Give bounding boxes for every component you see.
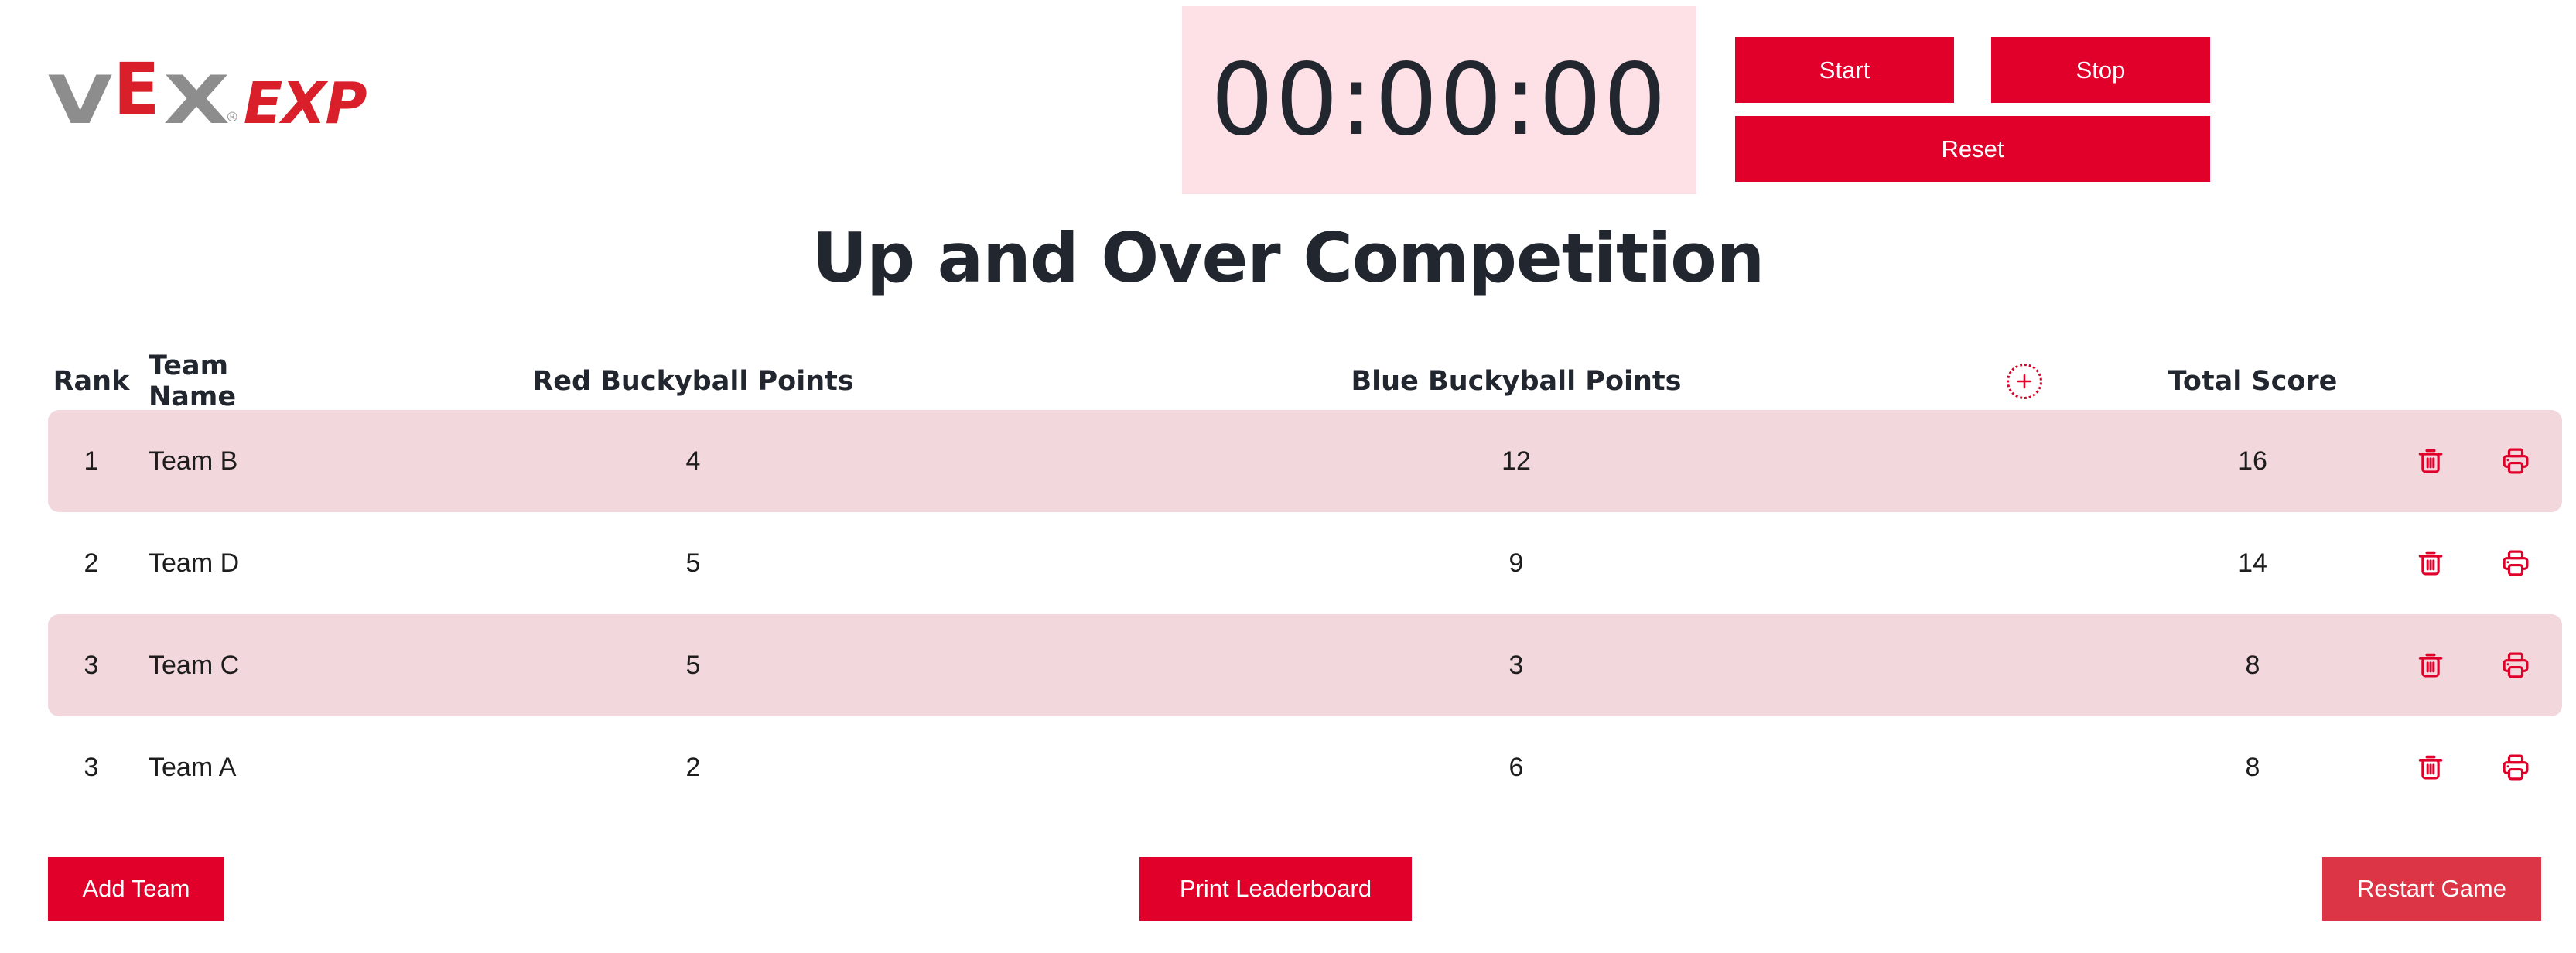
cell-rank: 3 [48, 651, 135, 681]
logo-letter-v: V [48, 67, 111, 134]
trash-icon[interactable] [2414, 750, 2448, 784]
timer-controls: Start Stop Reset [1735, 37, 2211, 182]
logo-letter-x: X [163, 67, 230, 134]
trash-icon[interactable] [2414, 648, 2448, 682]
timer-value: 00:00:00 [1211, 51, 1668, 150]
top-bar: V E X ® EXP 00:00:00 Start Stop Reset [0, 0, 2576, 200]
stop-button[interactable]: Stop [1991, 37, 2210, 103]
trash-icon[interactable] [2414, 444, 2448, 478]
print-icon[interactable] [2499, 444, 2533, 478]
table-row[interactable]: 3 Team C 5 3 8 [48, 614, 2562, 716]
cell-red-points: 2 [282, 753, 1105, 783]
footer-actions: Add Team Print Leaderboard Restart Game [0, 857, 2576, 953]
restart-game-button[interactable]: Restart Game [2322, 857, 2541, 921]
plus-circle-icon[interactable] [2007, 364, 2042, 399]
cell-red-points: 4 [282, 446, 1105, 476]
print-icon[interactable] [2499, 648, 2533, 682]
start-button[interactable]: Start [1735, 37, 1954, 103]
cell-total-score: 8 [2121, 753, 2384, 783]
cell-actions [2384, 444, 2562, 478]
table-row[interactable]: 2 Team D 5 9 14 [48, 512, 2562, 614]
table-header-row: Rank Team Name Red Buckyball Points Blue… [48, 353, 2562, 410]
cell-actions [2384, 546, 2562, 580]
column-header-total-score: Total Score [2121, 366, 2384, 397]
logo-word-exp: EXP [244, 75, 367, 132]
page-title: Up and Over Competition [0, 224, 2576, 292]
cell-team-name: Team A [135, 753, 282, 783]
cell-blue-points: 12 [1105, 446, 1928, 476]
cell-team-name: Team B [135, 446, 282, 476]
print-leaderboard-button[interactable]: Print Leaderboard [1139, 857, 1412, 921]
leaderboard-page: V E X ® EXP 00:00:00 Start Stop Reset Up… [0, 0, 2576, 953]
print-icon[interactable] [2499, 546, 2533, 580]
cell-red-points: 5 [282, 548, 1105, 579]
cell-rank: 3 [48, 753, 135, 783]
cell-blue-points: 9 [1105, 548, 1928, 579]
add-team-button[interactable]: Add Team [48, 857, 224, 921]
cell-blue-points: 6 [1105, 753, 1928, 783]
cell-total-score: 14 [2121, 548, 2384, 579]
cell-total-score: 16 [2121, 446, 2384, 476]
cell-total-score: 8 [2121, 651, 2384, 681]
table-row[interactable]: 3 Team A 2 6 8 [48, 716, 2562, 818]
column-header-team-name: Team Name [135, 350, 282, 412]
leaderboard-table: Rank Team Name Red Buckyball Points Blue… [0, 353, 2576, 818]
trash-icon[interactable] [2414, 546, 2448, 580]
registered-trademark-icon: ® [226, 111, 239, 125]
column-header-rank: Rank [48, 366, 135, 397]
cell-red-points: 5 [282, 651, 1105, 681]
cell-team-name: Team C [135, 651, 282, 681]
column-header-blue-buckyball-points: Blue Buckyball Points [1105, 366, 1928, 397]
cell-blue-points: 3 [1105, 651, 1928, 681]
table-row[interactable]: 1 Team B 4 12 16 [48, 410, 2562, 512]
vex-exp-logo: V E X ® EXP [48, 63, 367, 124]
logo-letter-e: E [113, 54, 159, 125]
cell-rank: 1 [48, 446, 135, 476]
column-header-red-buckyball-points: Red Buckyball Points [282, 366, 1105, 397]
print-icon[interactable] [2499, 750, 2533, 784]
cell-rank: 2 [48, 548, 135, 579]
cell-team-name: Team D [135, 548, 282, 579]
cell-actions [2384, 648, 2562, 682]
match-timer-display: 00:00:00 [1182, 6, 1696, 194]
add-column-cell [1928, 364, 2121, 399]
cell-actions [2384, 750, 2562, 784]
reset-button[interactable]: Reset [1735, 116, 2210, 182]
